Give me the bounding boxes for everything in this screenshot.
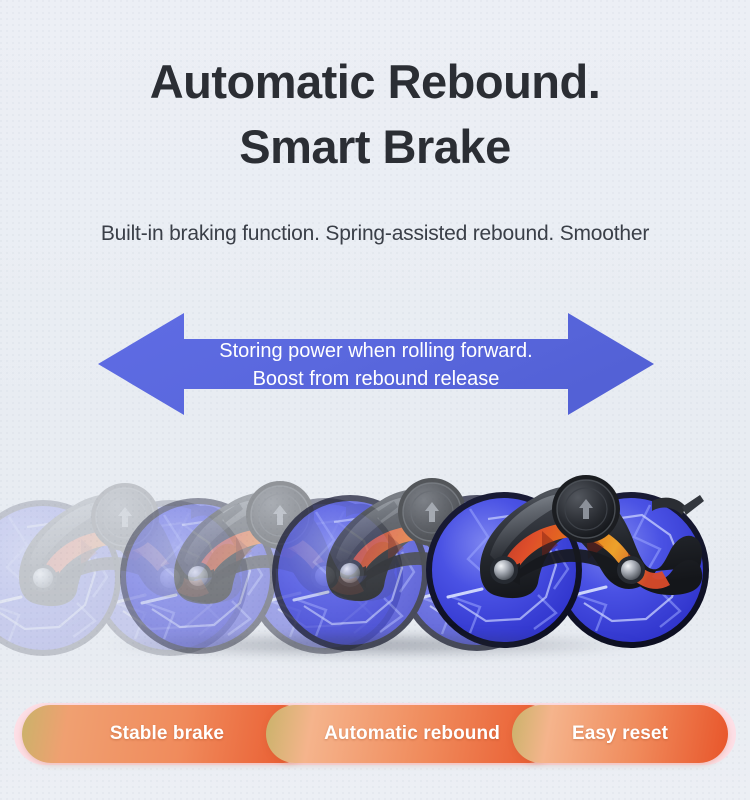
product-scene <box>0 445 750 675</box>
page-title: Automatic Rebound. Smart Brake <box>0 50 750 180</box>
arrow-banner-text: Storing power when rolling forward. Boos… <box>194 337 558 394</box>
page-subtitle: Built-in braking function. Spring-assist… <box>0 222 750 246</box>
arrow-text-line-1: Storing power when rolling forward. <box>194 337 558 365</box>
marketing-page: Automatic Rebound. Smart Brake Built-in … <box>0 0 750 800</box>
feature-pill-label: Automatic rebound <box>324 723 500 745</box>
feature-pill-label: Easy reset <box>572 723 668 745</box>
bidirectional-arrow-banner: Storing power when rolling forward. Boos… <box>98 303 654 425</box>
headline-line-2: Smart Brake <box>0 115 750 180</box>
arrow-text-line-2: Boost from rebound release <box>194 365 558 393</box>
headline-line-1: Automatic Rebound. <box>150 55 601 108</box>
ab-roller-sequence <box>0 445 750 675</box>
feature-pill-easy-reset[interactable]: Easy reset <box>512 705 728 763</box>
roller-solid <box>426 475 709 648</box>
feature-pill-label: Stable brake <box>110 723 224 745</box>
